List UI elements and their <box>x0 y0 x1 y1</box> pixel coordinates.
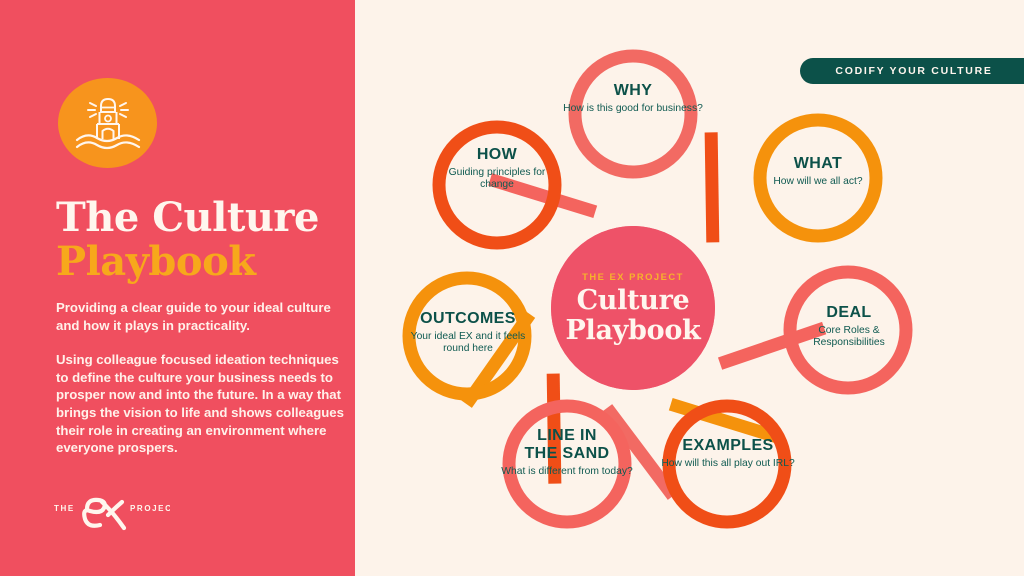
footer-logo-the: THE <box>54 504 75 513</box>
left-panel: The Culture Playbook Providing a clear g… <box>0 0 355 576</box>
intro-paragraph-1: Providing a clear guide to your ideal cu… <box>56 299 344 334</box>
ring-what[interactable] <box>760 120 876 236</box>
center-eyebrow: THE EX PROJECT <box>582 271 684 282</box>
lighthouse-icon <box>71 90 145 156</box>
culture-playbook-diagram: THE EX PROJECT Culture Playbook WHY How … <box>355 0 1024 576</box>
title-line-2: Playbook <box>56 240 356 284</box>
poster-title: The Culture Playbook <box>56 196 356 284</box>
poster-canvas: The Culture Playbook Providing a clear g… <box>0 0 1024 576</box>
title-line-1: The Culture <box>56 196 356 240</box>
footer-logo-project: PROJECT <box>130 504 170 513</box>
ring-why[interactable] <box>575 56 691 172</box>
intro-paragraph-2: Using colleague focused ideation techniq… <box>56 351 344 457</box>
center-title-line-2: Playbook <box>566 316 701 346</box>
center-title-line-1: Culture <box>577 286 690 316</box>
lighthouse-logo-badge <box>58 78 157 168</box>
intro-copy: Providing a clear guide to your ideal cu… <box>56 299 344 457</box>
center-badge: THE EX PROJECT Culture Playbook <box>551 226 715 390</box>
ring-line-in-the-sand[interactable] <box>509 406 625 522</box>
ex-project-footer-logo: THE PROJECT <box>52 487 170 533</box>
